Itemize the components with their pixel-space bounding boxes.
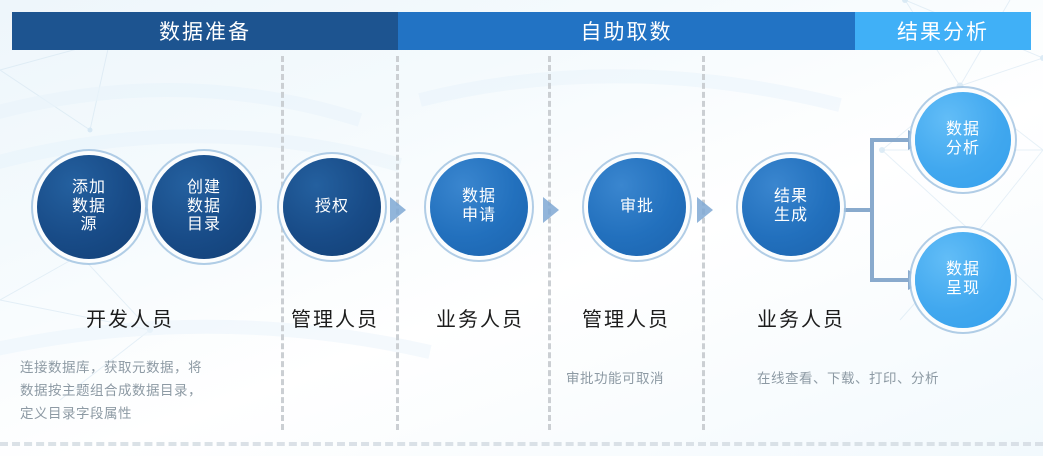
stage-bar-data-preparation[interactable]: 数据准备 [12,12,398,50]
node-line-1: 授权 [315,198,349,217]
node-line-3: 源 [80,216,97,235]
workflow-diagram: 数据准备 自助取数 结果分析 添加 数据 源 创建 数据 目录 [0,0,1043,456]
stage-label: 自助取数 [581,16,673,46]
node-line-1: 结果 [774,188,808,207]
node-line-2: 数据 [72,198,106,217]
node-line-1: 审批 [620,198,654,217]
node-line-1: 创建 [187,179,221,198]
node-line-1: 数据 [946,121,980,140]
node-line-2: 申请 [462,207,496,226]
role-label-business-1: 业务人员 [436,303,524,332]
node-authorize[interactable]: 授权 [283,158,381,256]
node-line-2: 呈现 [946,280,980,299]
node-line-3: 目录 [187,216,221,235]
flow-arrow-5-icon [697,197,713,223]
node-result-generation[interactable]: 结果 生成 [742,158,840,256]
bottom-dashed-rule [0,442,1043,446]
node-data-presentation[interactable]: 数据 呈现 [915,232,1011,328]
node-line-1: 数据 [946,261,980,280]
node-create-catalog[interactable]: 创建 数据 目录 [152,155,256,259]
flow-arrow-3-icon [390,197,406,223]
stage-label: 数据准备 [159,16,251,46]
stage-label: 结果分析 [897,16,989,46]
node-add-data-source[interactable]: 添加 数据 源 [37,155,141,259]
node-line-2: 生成 [774,207,808,226]
role-label-business-2: 业务人员 [757,303,845,332]
node-line-1: 添加 [72,179,106,198]
column-divider-1 [281,56,284,430]
node-approval[interactable]: 审批 [588,158,686,256]
description-approval: 审批功能可取消 [566,367,726,390]
node-line-2: 分析 [946,140,980,159]
node-data-request[interactable]: 数据 申请 [430,158,528,256]
stage-bar-self-service[interactable]: 自助取数 [398,12,855,50]
flow-arrow-4-icon [543,197,559,223]
role-label-admin-2: 管理人员 [582,303,670,332]
column-divider-2 [396,56,399,430]
role-label-admin-1: 管理人员 [291,303,379,332]
column-divider-3 [548,56,551,430]
stage-bar-result-analysis[interactable]: 结果分析 [855,12,1031,50]
node-line-1: 数据 [462,188,496,207]
node-data-analysis[interactable]: 数据 分析 [915,92,1011,188]
description-result: 在线查看、下载、打印、分析 [757,367,1017,390]
role-label-developer: 开发人员 [86,303,174,332]
node-line-2: 数据 [187,198,221,217]
description-data-preparation: 连接数据库，获取元数据，将 数据按主题组合成数据目录， 定义目录字段属性 [20,356,270,426]
